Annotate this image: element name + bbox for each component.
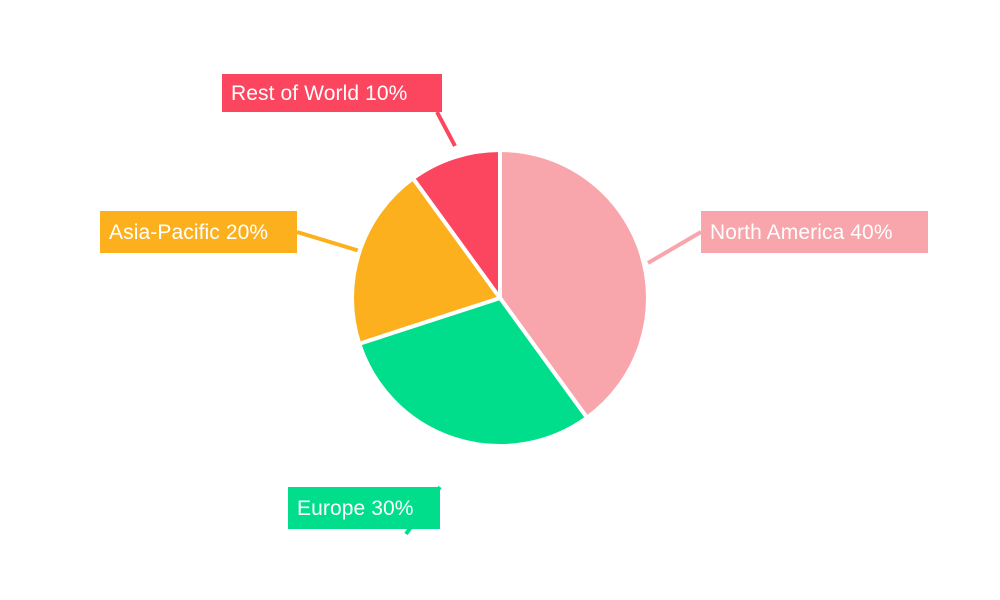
pie-slice-label-text: Rest of World 10% xyxy=(231,83,407,104)
pie-slice-label-europe[interactable]: Europe 30% xyxy=(288,487,440,529)
pie-slice-label-text: Asia-Pacific 20% xyxy=(109,222,268,243)
pie-slice-label-rest-of-world[interactable]: Rest of World 10% xyxy=(222,74,442,112)
pie-slice-label-asia-pacific[interactable]: Asia-Pacific 20% xyxy=(100,211,297,253)
leader-line-asia-pacific xyxy=(297,232,363,252)
pie-chart-svg xyxy=(0,0,1000,600)
pie-slice-label-north-america[interactable]: North America 40% xyxy=(701,211,928,253)
pie-slice-label-text: Europe 30% xyxy=(297,498,414,519)
leader-line-north-america xyxy=(648,232,701,263)
pie-wedges-group xyxy=(352,150,648,446)
leader-line-rest-of-world xyxy=(437,112,455,146)
pie-slice-label-text: North America 40% xyxy=(710,222,893,243)
pie-chart-canvas: North America 40% Europe 30% Asia-Pacifi… xyxy=(0,0,1000,600)
